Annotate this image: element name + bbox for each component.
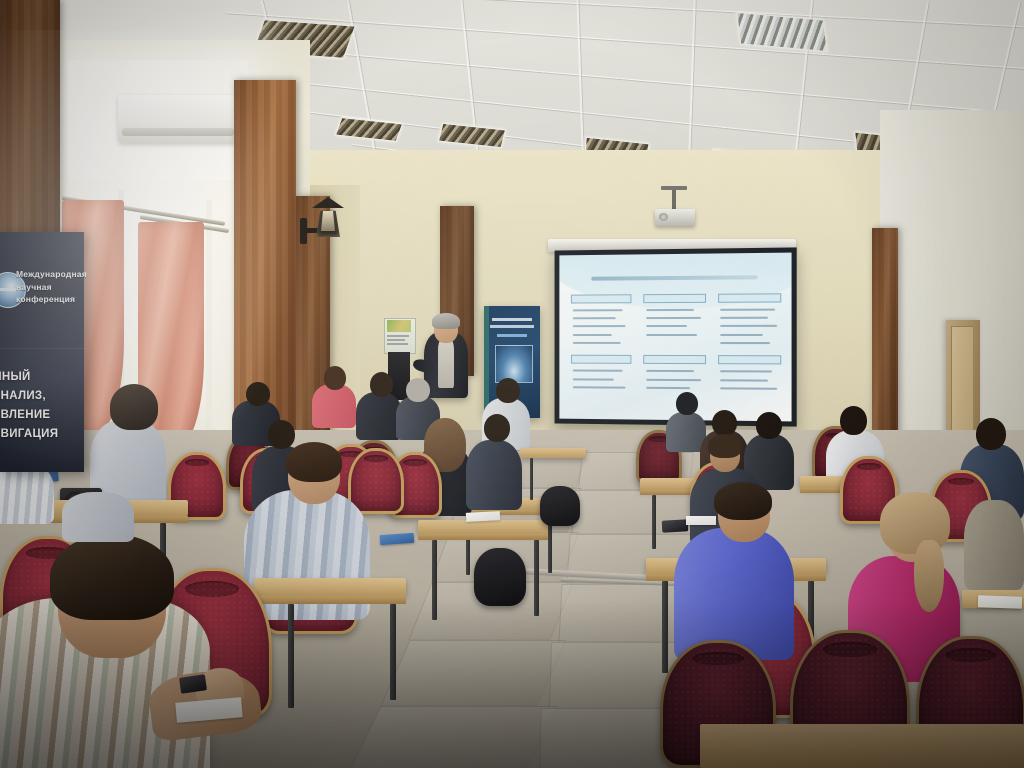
rollup-emblem-icon bbox=[495, 345, 533, 383]
presentation-slide bbox=[559, 253, 791, 422]
air-conditioner-vent bbox=[122, 128, 234, 136]
presenter-hair bbox=[432, 313, 460, 329]
chair[interactable] bbox=[348, 448, 404, 514]
slide-box-header bbox=[643, 294, 705, 303]
rollup-text-line bbox=[492, 318, 532, 321]
papers[interactable] bbox=[978, 595, 1022, 609]
papers[interactable] bbox=[466, 511, 500, 522]
banner-divider bbox=[0, 348, 86, 349]
poster-image bbox=[387, 320, 411, 332]
wooden-pillar bbox=[872, 228, 898, 438]
backpack[interactable] bbox=[540, 486, 580, 526]
slide-box-header bbox=[718, 293, 782, 302]
wall-lamp-glass bbox=[321, 211, 335, 231]
presenter-shirt bbox=[438, 340, 454, 388]
backpack[interactable] bbox=[474, 548, 526, 606]
slide-box-header bbox=[571, 294, 632, 303]
rollup-text-line bbox=[497, 334, 527, 337]
phone[interactable] bbox=[662, 519, 689, 532]
conference-hall-photo: Международная научная конференция МНЫЙ А… bbox=[0, 0, 1024, 768]
slide-box-header bbox=[718, 355, 782, 364]
banner-subheading: МНЫЙ АНАЛИЗ, АВЛЕНИЕ АВИГАЦИЯ bbox=[0, 368, 84, 444]
slide-box-header bbox=[643, 355, 705, 364]
papers[interactable] bbox=[686, 516, 716, 525]
desk bbox=[700, 724, 1024, 768]
desk bbox=[254, 578, 406, 596]
wooden-pillar bbox=[0, 0, 60, 245]
desk bbox=[418, 520, 548, 534]
rollup-text-line bbox=[490, 325, 534, 328]
projector-lens bbox=[659, 213, 668, 221]
rollup-banner-edge bbox=[484, 306, 489, 418]
ponytail bbox=[914, 540, 944, 612]
slide-box-header bbox=[571, 355, 632, 364]
banner-heading: Международная научная конференция bbox=[16, 268, 82, 306]
desk bbox=[520, 448, 586, 458]
projector-mount-pole bbox=[672, 190, 676, 211]
